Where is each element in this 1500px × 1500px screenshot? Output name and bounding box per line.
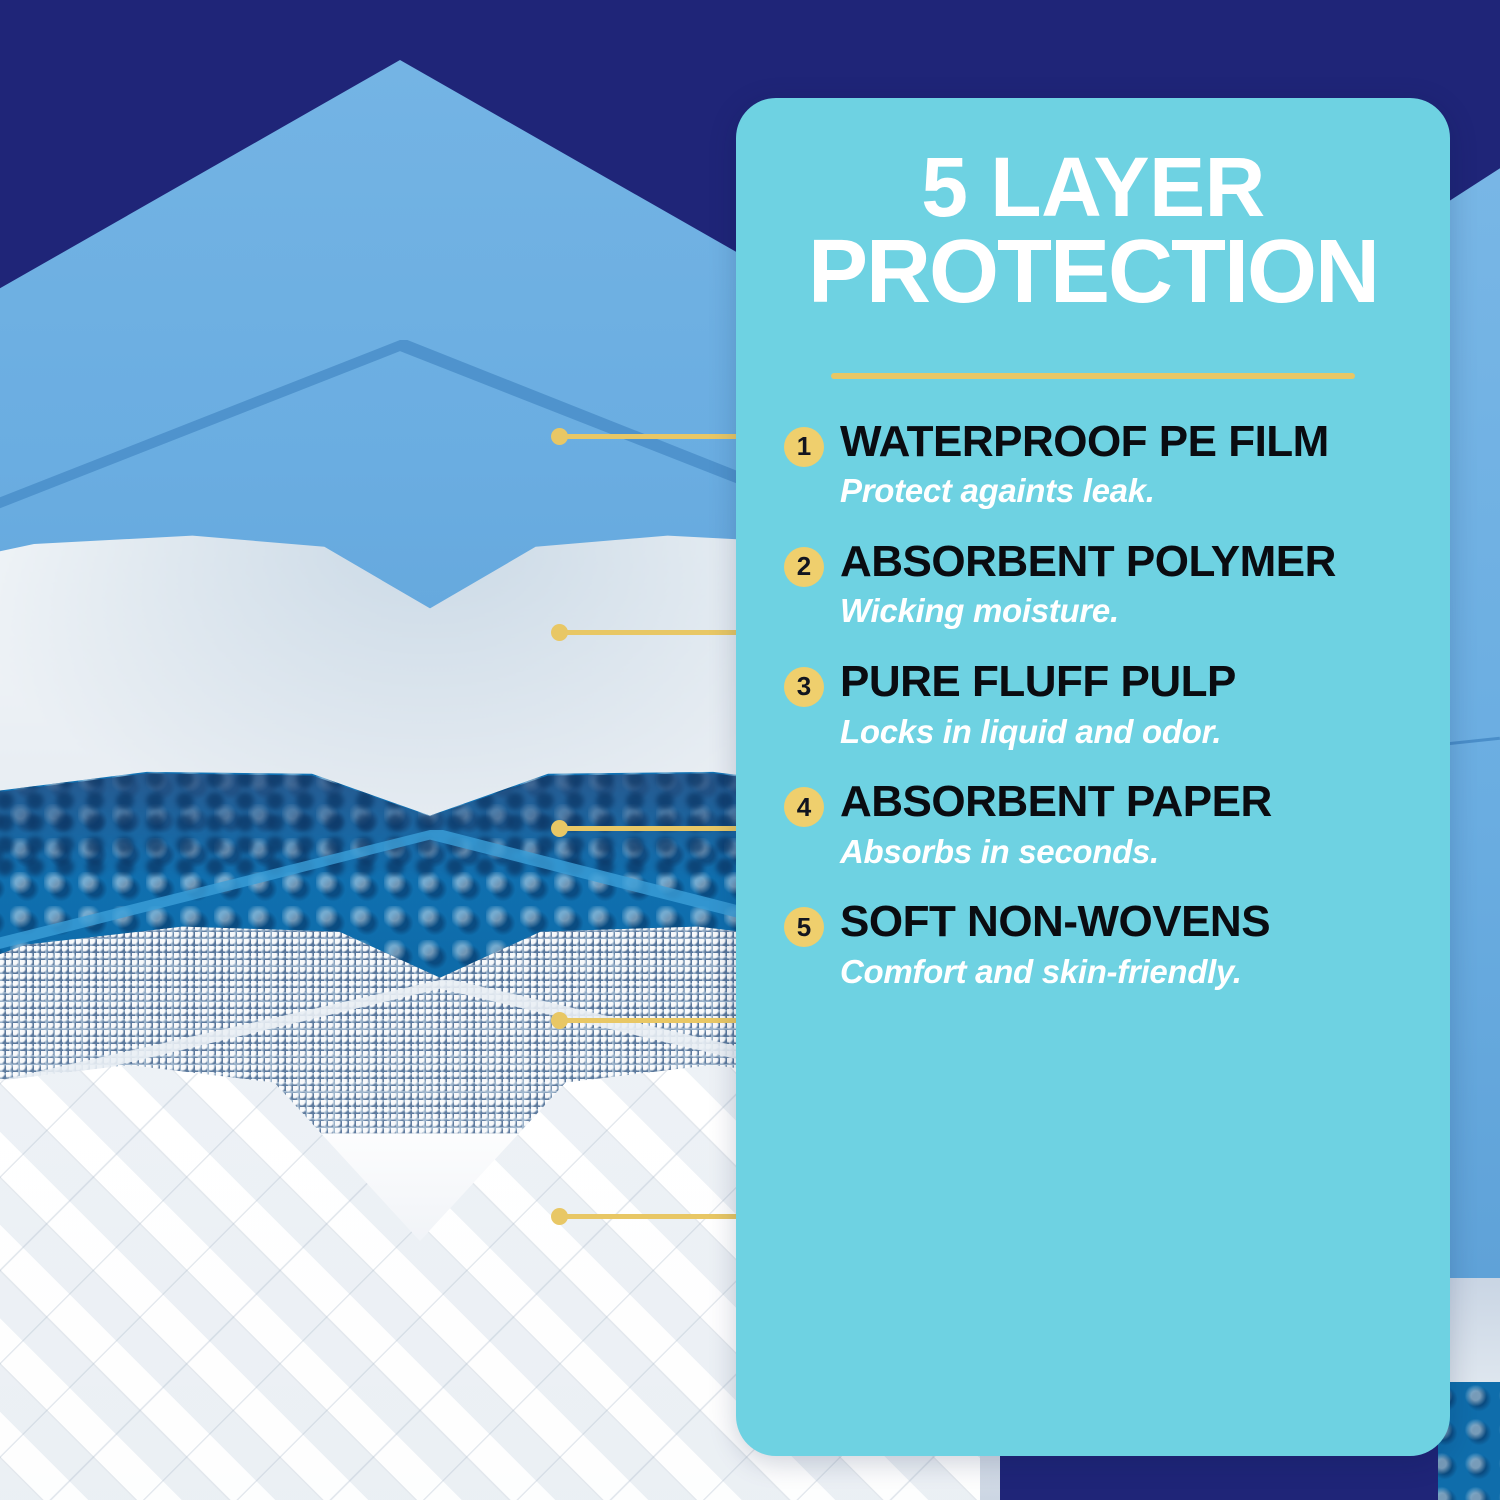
layer-badge-5: 5 bbox=[784, 907, 824, 947]
layer-text-4: ABSORBENT PAPER Absorbs in seconds. bbox=[824, 779, 1272, 871]
layer-subtitle-5: Comfort and skin-friendly. bbox=[840, 952, 1270, 992]
leader-dot-1 bbox=[551, 428, 568, 445]
layer-text-5: SOFT NON-WOVENS Comfort and skin-friendl… bbox=[824, 899, 1270, 991]
features-card: 5 LAYER PROTECTION 1 WATERPROOF PE FILM … bbox=[736, 98, 1450, 1456]
layer-title-5: SOFT NON-WOVENS bbox=[840, 899, 1270, 946]
card-title: 5 LAYER PROTECTION bbox=[736, 98, 1450, 317]
layer-subtitle-3: Locks in liquid and odor. bbox=[840, 712, 1236, 752]
list-item: 4 ABSORBENT PAPER Absorbs in seconds. bbox=[736, 779, 1450, 871]
layer-title-3: PURE FLUFF PULP bbox=[840, 659, 1236, 706]
layer-list: 1 WATERPROOF PE FILM Protect againts lea… bbox=[736, 379, 1450, 992]
layer-badge-2: 2 bbox=[784, 547, 824, 587]
layer-badge-3: 3 bbox=[784, 667, 824, 707]
layer-subtitle-2: Wicking moisture. bbox=[840, 591, 1336, 631]
layer-text-2: ABSORBENT POLYMER Wicking moisture. bbox=[824, 539, 1336, 631]
layer-title-4: ABSORBENT PAPER bbox=[840, 779, 1272, 826]
card-title-line-2: PROTECTION bbox=[762, 228, 1424, 316]
list-item: 2 ABSORBENT POLYMER Wicking moisture. bbox=[736, 539, 1450, 631]
infographic-stage: 5 LAYER PROTECTION 1 WATERPROOF PE FILM … bbox=[0, 0, 1500, 1500]
list-item: 5 SOFT NON-WOVENS Comfort and skin-frien… bbox=[736, 899, 1450, 991]
leader-dot-2 bbox=[551, 624, 568, 641]
leader-dot-3 bbox=[551, 820, 568, 837]
list-item: 3 PURE FLUFF PULP Locks in liquid and od… bbox=[736, 659, 1450, 751]
layer-title-2: ABSORBENT POLYMER bbox=[840, 539, 1336, 586]
leader-dot-4 bbox=[551, 1012, 568, 1029]
leader-dot-5 bbox=[551, 1208, 568, 1225]
list-item: 1 WATERPROOF PE FILM Protect againts lea… bbox=[736, 419, 1450, 511]
layer-text-1: WATERPROOF PE FILM Protect againts leak. bbox=[824, 419, 1329, 511]
layer-badge-4: 4 bbox=[784, 787, 824, 827]
card-title-line-1: 5 LAYER bbox=[921, 140, 1265, 234]
layer-title-1: WATERPROOF PE FILM bbox=[840, 419, 1329, 466]
layer-text-3: PURE FLUFF PULP Locks in liquid and odor… bbox=[824, 659, 1236, 751]
layer-badge-1: 1 bbox=[784, 427, 824, 467]
layer-subtitle-4: Absorbs in seconds. bbox=[840, 832, 1272, 872]
layer-subtitle-1: Protect againts leak. bbox=[840, 471, 1329, 511]
